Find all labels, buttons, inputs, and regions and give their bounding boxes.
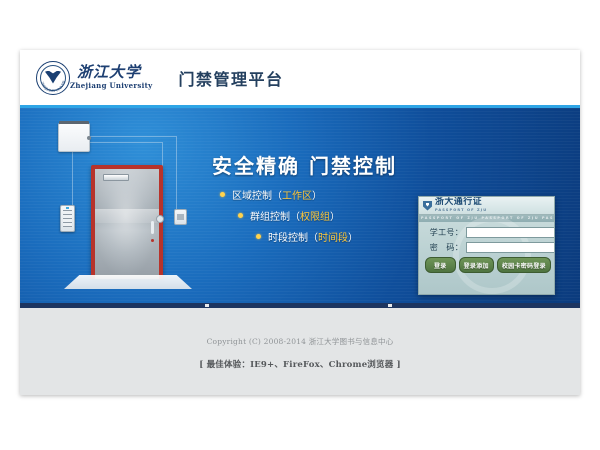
door-panel (95, 169, 159, 279)
site-footer: Copyright (C) 2008-2014 浙江大学图书与信息中心 [ 最佳… (20, 308, 580, 395)
door-handle-icon (151, 221, 154, 234)
access-control-door-illustration (48, 117, 198, 297)
keypad-led (66, 207, 69, 209)
login-title-en: PASSPORT OF ZJU (435, 209, 487, 213)
controller-box-icon (58, 123, 90, 152)
university-logo[interactable]: ZHEJIANG UNIVERSITY 浙江大学 Zhejiang Univer… (36, 61, 152, 95)
login-button-row: 登录 登录添加 校园卡密码登录 (425, 257, 548, 273)
cable-vertical-right (176, 136, 178, 209)
feature-prefix: 区域控制（ (232, 187, 282, 202)
feature-highlight: 时间段 (318, 229, 348, 244)
student-staff-id-input[interactable] (466, 227, 555, 238)
feature-item-area-control: 区域控制（ 工作区 ） (220, 187, 435, 202)
field-row-password: 密 码： (425, 242, 548, 253)
login-title-cn: 浙大通行证 (435, 198, 487, 207)
page-title: 门禁管理平台 (178, 66, 283, 90)
login-add-button[interactable]: 登录添加 (459, 257, 494, 273)
feature-highlight: 工作区 (282, 187, 312, 202)
banner-headline: 安全精确 门禁控制 (212, 150, 397, 179)
logo-chinese-name: 浙江大学 (77, 65, 152, 81)
login-panel: 浙大通行证 PASSPORT OF ZJU PASSPORT OF ZJU PA… (418, 196, 555, 295)
zju-seal-icon: ZHEJIANG UNIVERSITY (36, 61, 70, 95)
passport-watermark-strip: PASSPORT OF ZJU PASSPORT OF ZJU PASSPORT… (419, 215, 554, 222)
card-reader-icon (174, 209, 187, 225)
keypad-reader-icon (60, 205, 75, 232)
feature-prefix: 时段控制（ (268, 229, 318, 244)
campus-card-login-button[interactable]: 校园卡密码登录 (497, 257, 551, 273)
divider-notch (205, 304, 209, 307)
shield-icon (423, 201, 432, 211)
controller-knob (87, 136, 91, 140)
page-container: ZHEJIANG UNIVERSITY 浙江大学 Zhejiang Univer… (20, 50, 580, 395)
door-lock-icon (151, 239, 154, 242)
feature-suffix: ） (348, 229, 358, 244)
keypad-buttons (63, 210, 72, 227)
divider-notch (388, 304, 392, 307)
cable-horizontal-mid (88, 142, 162, 144)
seal-arc-text: ZHEJIANG UNIVERSITY (37, 62, 69, 94)
door-panel-highlight (95, 209, 159, 223)
bullet-dot-icon (220, 192, 225, 197)
cable-horizontal-top (88, 136, 176, 138)
login-panel-header: 浙大通行证 PASSPORT OF ZJU (419, 197, 554, 215)
cable-vertical-door (162, 142, 164, 168)
login-form: 学工号： 密 码： 登录 登录添加 校园卡密码登录 (419, 222, 554, 277)
feature-list: 区域控制（ 工作区 ） 群组控制（ 权限组 ） 时段控制（ 时间段 ） (220, 187, 435, 250)
feature-suffix: ） (330, 208, 340, 223)
door-knob-icon (156, 215, 164, 223)
floor-platform (64, 275, 192, 289)
password-label: 密 码： (425, 242, 463, 253)
feature-suffix: ） (312, 187, 322, 202)
copyright-text: Copyright (C) 2008-2014 浙江大学图书与信息中心 (20, 336, 580, 347)
hero-banner: 安全精确 门禁控制 区域控制（ 工作区 ） 群组控制（ 权限组 ） 时段控制（ … (20, 105, 580, 303)
field-row-username: 学工号： (425, 227, 548, 238)
feature-item-group-control: 群组控制（ 权限组 ） (220, 208, 435, 223)
cable-vertical-left (72, 150, 74, 205)
svg-text:ZHEJIANG UNIVERSITY: ZHEJIANG UNIVERSITY (37, 62, 66, 93)
feature-highlight: 权限组 (300, 208, 330, 223)
feature-item-time-control: 时段控制（ 时间段 ） (220, 229, 435, 244)
browser-compatibility-note: [ 最佳体验：IE9+、FireFox、Chrome浏览器 ] (20, 358, 580, 370)
bullet-dot-icon (238, 213, 243, 218)
student-staff-id-label: 学工号： (425, 227, 463, 238)
site-header: ZHEJIANG UNIVERSITY 浙江大学 Zhejiang Univer… (20, 50, 580, 105)
card-reader-slot (177, 214, 184, 220)
password-input[interactable] (466, 242, 555, 253)
logo-english-name: Zhejiang University (70, 81, 152, 90)
door-frame (91, 165, 163, 279)
bullet-dot-icon (256, 234, 261, 239)
banner-accent-line (20, 105, 580, 108)
feature-prefix: 群组控制（ (250, 208, 300, 223)
door-closer-icon (103, 174, 129, 181)
login-button[interactable]: 登录 (425, 257, 456, 273)
